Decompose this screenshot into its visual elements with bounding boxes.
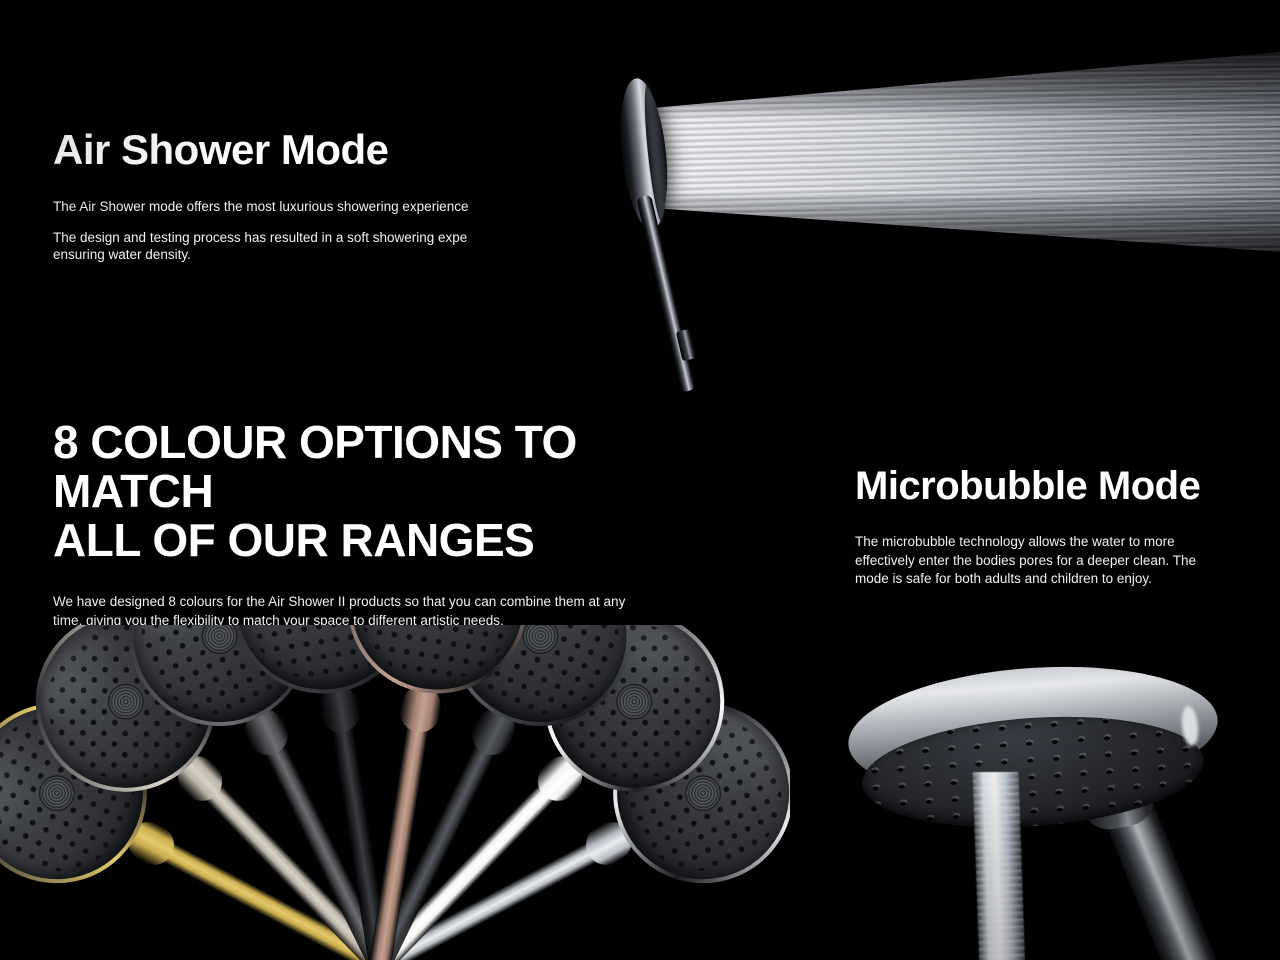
microbubble-copy-block: Microbubble Mode The microbubble technol…: [855, 465, 1255, 589]
shower-head-stem: [636, 194, 696, 392]
colour-options-image: [0, 625, 790, 960]
product-feature-page: Air Shower Mode The Air Shower mode offe…: [0, 0, 1280, 960]
air-shower-paragraph-1: The Air Shower mode offers the most luxu…: [53, 198, 468, 216]
air-shower-section: Air Shower Mode The Air Shower mode offe…: [0, 0, 1280, 400]
microbubble-heading: Microbubble Mode: [855, 465, 1255, 507]
microbubble-image: [790, 610, 1280, 960]
colour-options-heading: 8 COLOUR OPTIONS TO MATCH ALL OF OUR RAN…: [53, 418, 713, 566]
colour-options-heading-line-1: 8 COLOUR OPTIONS TO MATCH: [53, 416, 577, 517]
water-spray-graphic: [652, 52, 1280, 252]
water-column-texture: [973, 772, 1026, 960]
spray-shade-top: [652, 52, 1280, 120]
microbubble-paragraph: The microbubble technology allows the wa…: [855, 533, 1205, 589]
colour-options-heading-line-2: ALL OF OUR RANGES: [53, 514, 534, 566]
spray-shade-bottom: [652, 192, 1280, 252]
colour-and-microbubble-section: 8 COLOUR OPTIONS TO MATCH ALL OF OUR RAN…: [0, 400, 1280, 960]
air-shower-heading: Air Shower Mode: [53, 128, 468, 172]
air-shower-paragraph-2: The design and testing process has resul…: [53, 230, 468, 264]
water-column: [973, 772, 1026, 960]
air-shower-copy-block: Air Shower Mode The Air Shower mode offe…: [53, 128, 468, 278]
air-shower-image: [600, 0, 1280, 400]
